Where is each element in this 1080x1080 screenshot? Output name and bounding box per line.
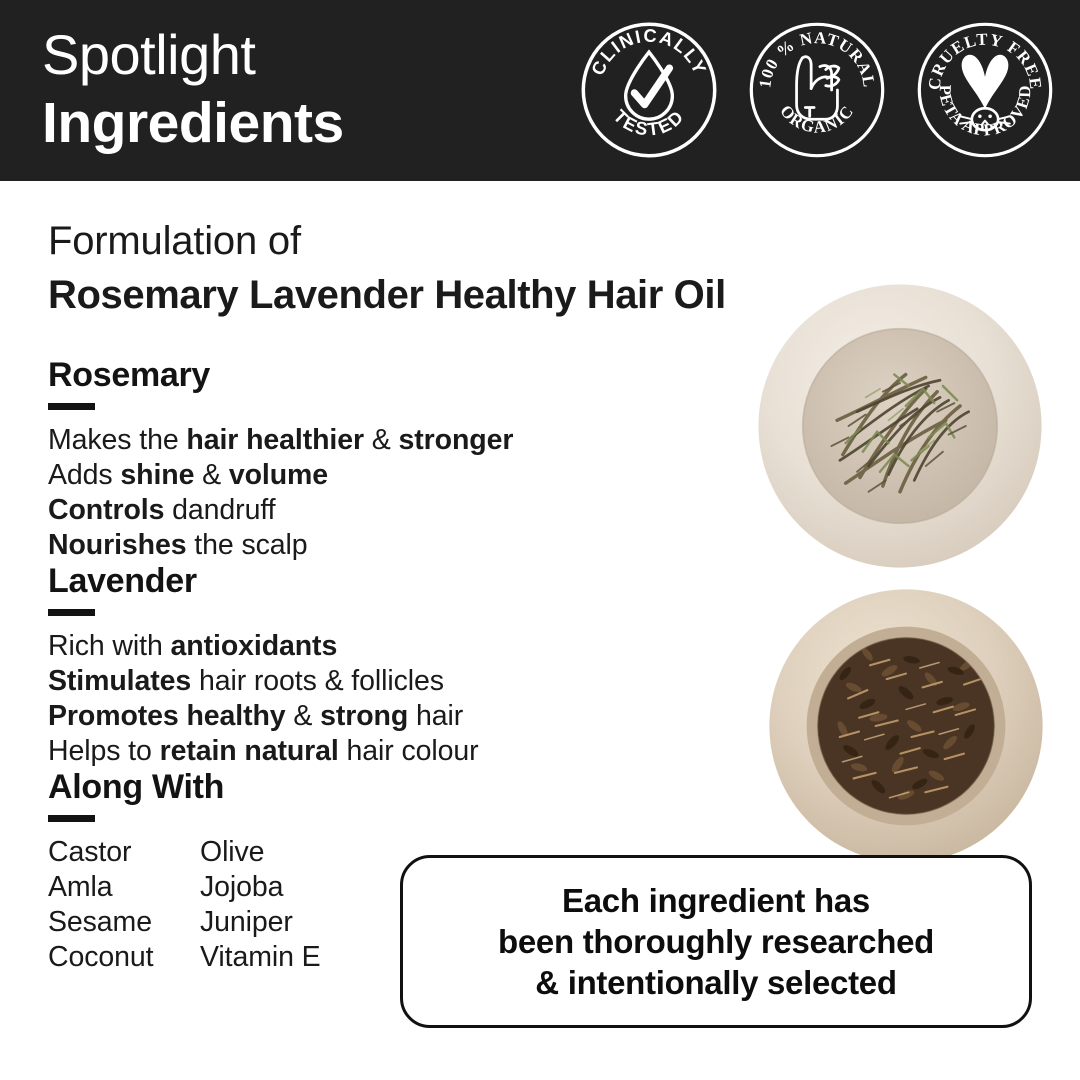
page-title-line2: Ingredients [42, 90, 344, 157]
lavender-bowl-illustration [768, 588, 1044, 864]
certification-badges: CLINICALLY TESTED 100 % NATURAL [576, 17, 1058, 163]
clinically-tested-badge: CLINICALLY TESTED [576, 17, 722, 163]
benefit-item: Nourishes the scalp [48, 528, 688, 563]
section-lavender: Lavender Rich with antioxidantsStimulate… [48, 562, 688, 769]
benefit-item: Promotes healthy & strong hair [48, 699, 688, 734]
ingredient-item: Castor [48, 835, 200, 870]
benefit-list-lavender: Rich with antioxidantsStimulates hair ro… [48, 629, 688, 769]
section-rule [48, 609, 95, 616]
product-name: Rosemary Lavender Healthy Hair Oil [48, 270, 808, 320]
callout-line-2: been thoroughly researched [498, 921, 934, 962]
bunny-heart-icon [960, 55, 1010, 130]
benefit-item: Adds shine & volume [48, 458, 688, 493]
header-band: Spotlight Ingredients CLINICALLY TESTED [0, 0, 1080, 181]
ingredient-item: Sesame [48, 905, 200, 940]
cruelty-free-badge: CRUELTY FREE PETA APPROVED [912, 17, 1058, 163]
benefit-item: Rich with antioxidants [48, 629, 688, 664]
svg-text:TESTED: TESTED [609, 105, 688, 140]
formulation-title: Formulation of Rosemary Lavender Healthy… [48, 216, 808, 320]
hand-leaf-icon [797, 57, 839, 119]
along-with-column-2: OliveJojobaJuniperVitamin E [200, 835, 352, 975]
benefit-item: Makes the hair healthier & stronger [48, 423, 688, 458]
page-title: Spotlight Ingredients [42, 22, 344, 157]
section-rosemary: Rosemary Makes the hair healthier & stro… [48, 356, 688, 563]
section-rule [48, 815, 95, 822]
ingredient-item: Coconut [48, 940, 200, 975]
section-heading-along-with: Along With [48, 768, 688, 806]
ingredient-item: Jojoba [200, 870, 352, 905]
infographic-page: Spotlight Ingredients CLINICALLY TESTED [0, 0, 1080, 1080]
callout-line-1: Each ingredient has [562, 880, 870, 921]
section-rule [48, 403, 95, 410]
research-callout: Each ingredient has been thoroughly rese… [400, 855, 1032, 1028]
ingredient-item: Amla [48, 870, 200, 905]
section-heading-rosemary: Rosemary [48, 356, 688, 394]
benefit-item: Stimulates hair roots & follicles [48, 664, 688, 699]
droplet-icon [626, 52, 673, 119]
check-icon [634, 68, 669, 105]
along-with-column-1: CastorAmlaSesameCoconut [48, 835, 200, 975]
ingredient-item: Vitamin E [200, 940, 352, 975]
callout-line-3: & intentionally selected [535, 962, 896, 1003]
lavender-bowl-photo [768, 588, 1044, 864]
rosemary-bowl-photo [757, 283, 1043, 569]
natural-organic-badge: 100 % NATURAL ORGANIC [744, 17, 890, 163]
benefit-list-rosemary: Makes the hair healthier & strongerAdds … [48, 423, 688, 563]
benefit-item: Helps to retain natural hair colour [48, 734, 688, 769]
rosemary-bowl-illustration [757, 283, 1043, 569]
ingredient-item: Olive [200, 835, 352, 870]
section-heading-lavender: Lavender [48, 562, 688, 600]
formulation-prefix: Formulation of [48, 216, 808, 266]
page-title-line1: Spotlight [42, 22, 344, 88]
ingredient-item: Juniper [200, 905, 352, 940]
benefit-item: Controls dandruff [48, 493, 688, 528]
